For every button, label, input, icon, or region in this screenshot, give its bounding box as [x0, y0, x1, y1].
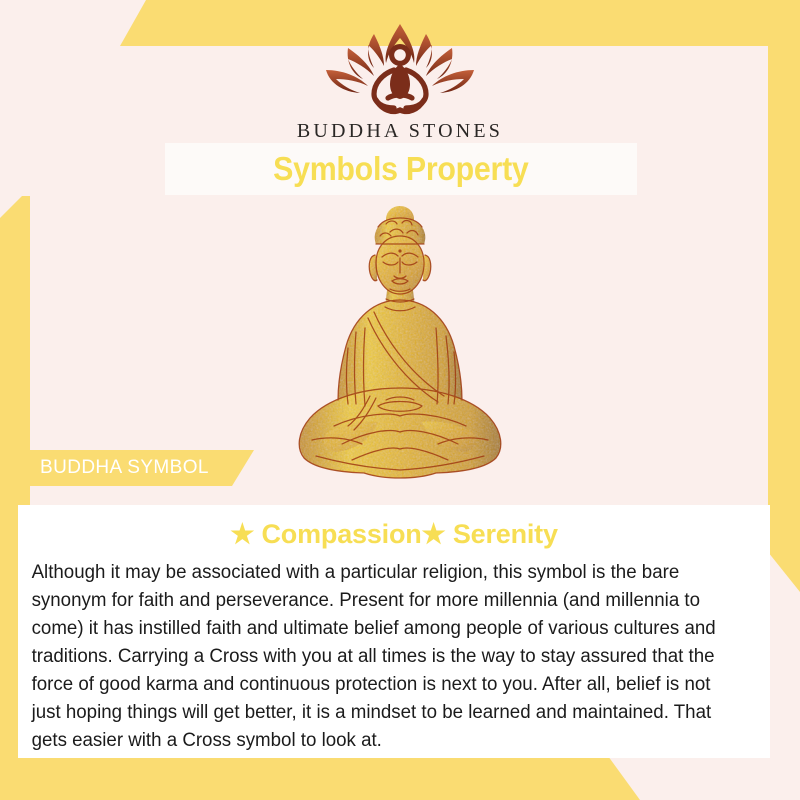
content-card: ★ Compassion★ Serenity Although it may b… [18, 505, 770, 758]
brand-name: BUDDHA STONES [0, 120, 800, 143]
lotus-meditation-icon [314, 18, 486, 118]
page-title: Symbols Property [273, 150, 528, 188]
section-tag-label: BUDDHA SYMBOL [18, 457, 209, 479]
buddha-statue-image [286, 200, 514, 492]
brand-header: BUDDHA STONES [0, 18, 800, 143]
seated-buddha-icon [286, 200, 514, 492]
keywords-line: ★ Compassion★ Serenity [18, 505, 770, 550]
title-banner: Symbols Property [165, 143, 637, 195]
promo-banner-page: BUDDHA STONES Symbols Property [0, 0, 800, 800]
body-paragraph: Although it may be associated with a par… [18, 550, 747, 755]
frame-bottom-bar [0, 756, 640, 800]
section-tag-buddha-symbol: BUDDHA SYMBOL [18, 450, 254, 486]
